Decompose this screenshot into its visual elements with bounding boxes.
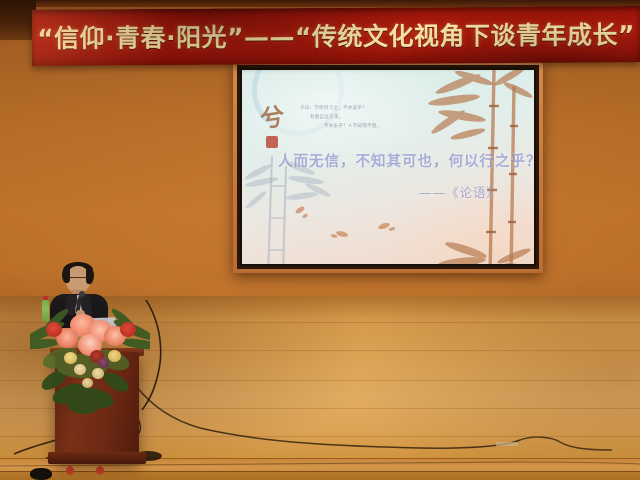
lectern-base xyxy=(48,452,146,464)
flower-bloom-purple xyxy=(98,358,109,368)
floral-arrangement xyxy=(30,306,150,414)
flower-bloom-red-2 xyxy=(120,322,136,337)
slide-main-quote: 人而无信，不知其可也，何以行之乎？ xyxy=(278,150,528,171)
stage-object-red-marker-2 xyxy=(96,466,104,475)
slide-small-line-3: 不亦乐乎？人不知而不愠。 xyxy=(300,122,440,131)
microphone-head xyxy=(79,291,85,297)
slide-koi-figures xyxy=(272,196,432,250)
stage-object-dark-blob xyxy=(30,468,52,480)
slide-small-text-block: 子曰：学而时习之，不亦说乎？ 有朋自远方来， 不亦乐乎？人不知而不愠。 xyxy=(300,104,440,131)
slide-red-seal-stamp xyxy=(266,136,278,148)
flower-bloom-orchid-3 xyxy=(82,378,93,388)
flower-bloom-orchid-1 xyxy=(74,364,86,375)
flower-bloom-yellow-1 xyxy=(64,352,77,364)
slide-small-line-2: 有朋自远方来， xyxy=(300,113,440,122)
slide-content: 兮 子曰：学而时习之，不亦说乎？ 有朋自远方来， 不亦乐乎？人不知而不愠。 人而… xyxy=(242,70,534,264)
stage-object-red-marker-1 xyxy=(66,466,74,475)
screen-frame: 兮 子曰：学而时习之，不亦说乎？ 有朋自远方来， 不亦乐乎？人不知而不愠。 人而… xyxy=(237,65,539,269)
projection-screen[interactable]: 兮 子曰：学而时习之，不亦说乎？ 有朋自远方来， 不亦乐乎？人不知而不愠。 人而… xyxy=(233,61,543,273)
slide-small-line-1: 子曰：学而时习之，不亦说乎？ xyxy=(300,104,440,113)
slide-citation: ——《论语》 xyxy=(419,182,500,201)
slide-brush-character: 兮 xyxy=(260,96,285,135)
flower-bloom-orchid-2 xyxy=(92,368,104,379)
flower-bloom-yellow-2 xyxy=(108,350,121,362)
speaker-glasses xyxy=(68,277,88,282)
flower-bloom-red-1 xyxy=(46,322,62,337)
lecture-hall-photo: 兮 子曰：学而时习之，不亦说乎？ 有朋自远方来， 不亦乐乎？人不知而不愠。 人而… xyxy=(0,0,640,480)
